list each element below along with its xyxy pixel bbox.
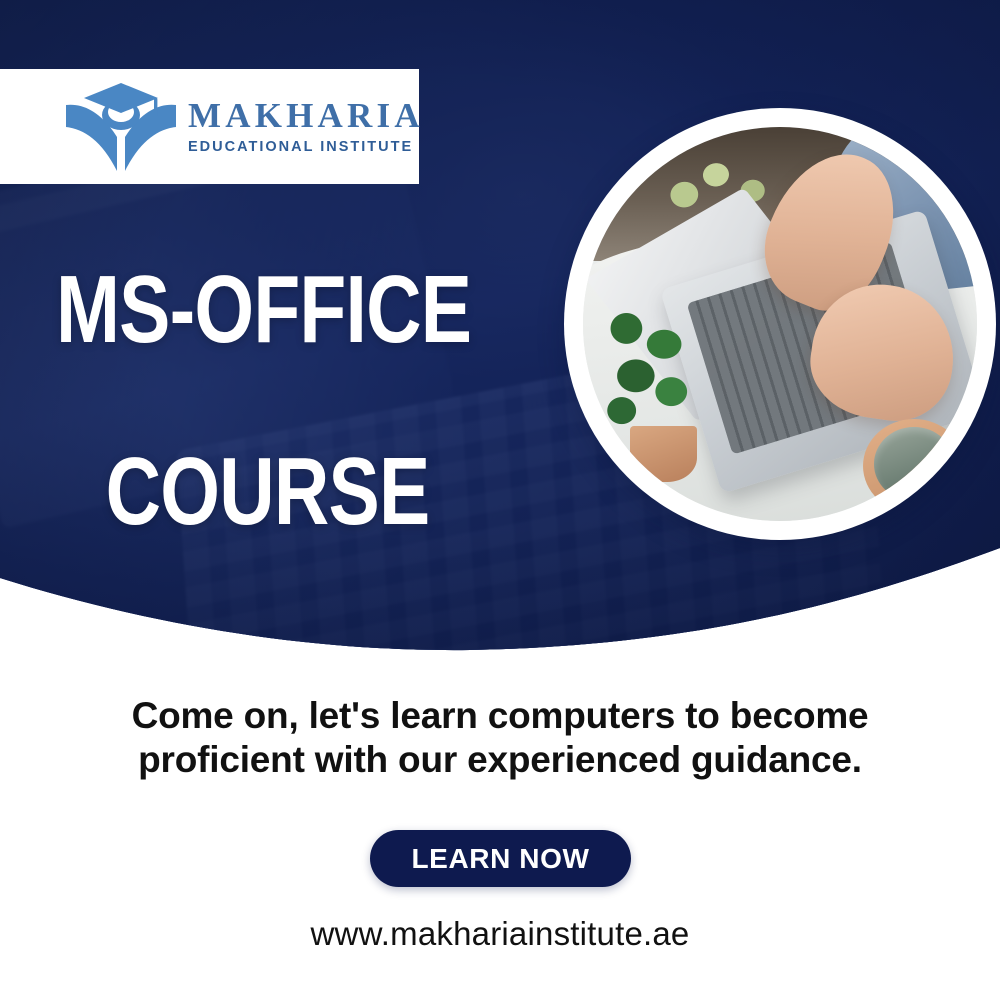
tagline-line-1: Come on, let's learn computers to become [0, 694, 1000, 738]
circular-photo [564, 108, 996, 540]
learn-now-button[interactable]: LEARN NOW [370, 830, 631, 887]
promo-poster: MAKHARIA EDUCATIONAL INSTITUTE MS-OFFICE… [0, 0, 1000, 1000]
photo-plant-pot [630, 426, 697, 481]
headline-line-2: COURSE [106, 444, 472, 540]
headline-line-1: MS-OFFICE [56, 262, 471, 358]
logo-wordmark: MAKHARIA EDUCATIONAL INSTITUTE [188, 98, 424, 155]
photo-cup [863, 419, 965, 514]
website-url[interactable]: www.makhariainstitute.ae [0, 915, 1000, 953]
photo-cup-body [874, 427, 954, 501]
photo-laptop-typing [583, 127, 977, 521]
brand-subtitle: EDUCATIONAL INSTITUTE [188, 140, 424, 155]
page-title: MS-OFFICE COURSE [56, 262, 471, 540]
logo-bar[interactable]: MAKHARIA EDUCATIONAL INSTITUTE [0, 69, 419, 184]
tagline: Come on, let's learn computers to become… [0, 694, 1000, 781]
graduation-cap-book-icon [62, 79, 180, 175]
brand-name: MAKHARIA [188, 98, 424, 133]
tagline-line-2: proficient with our experienced guidance… [0, 738, 1000, 782]
